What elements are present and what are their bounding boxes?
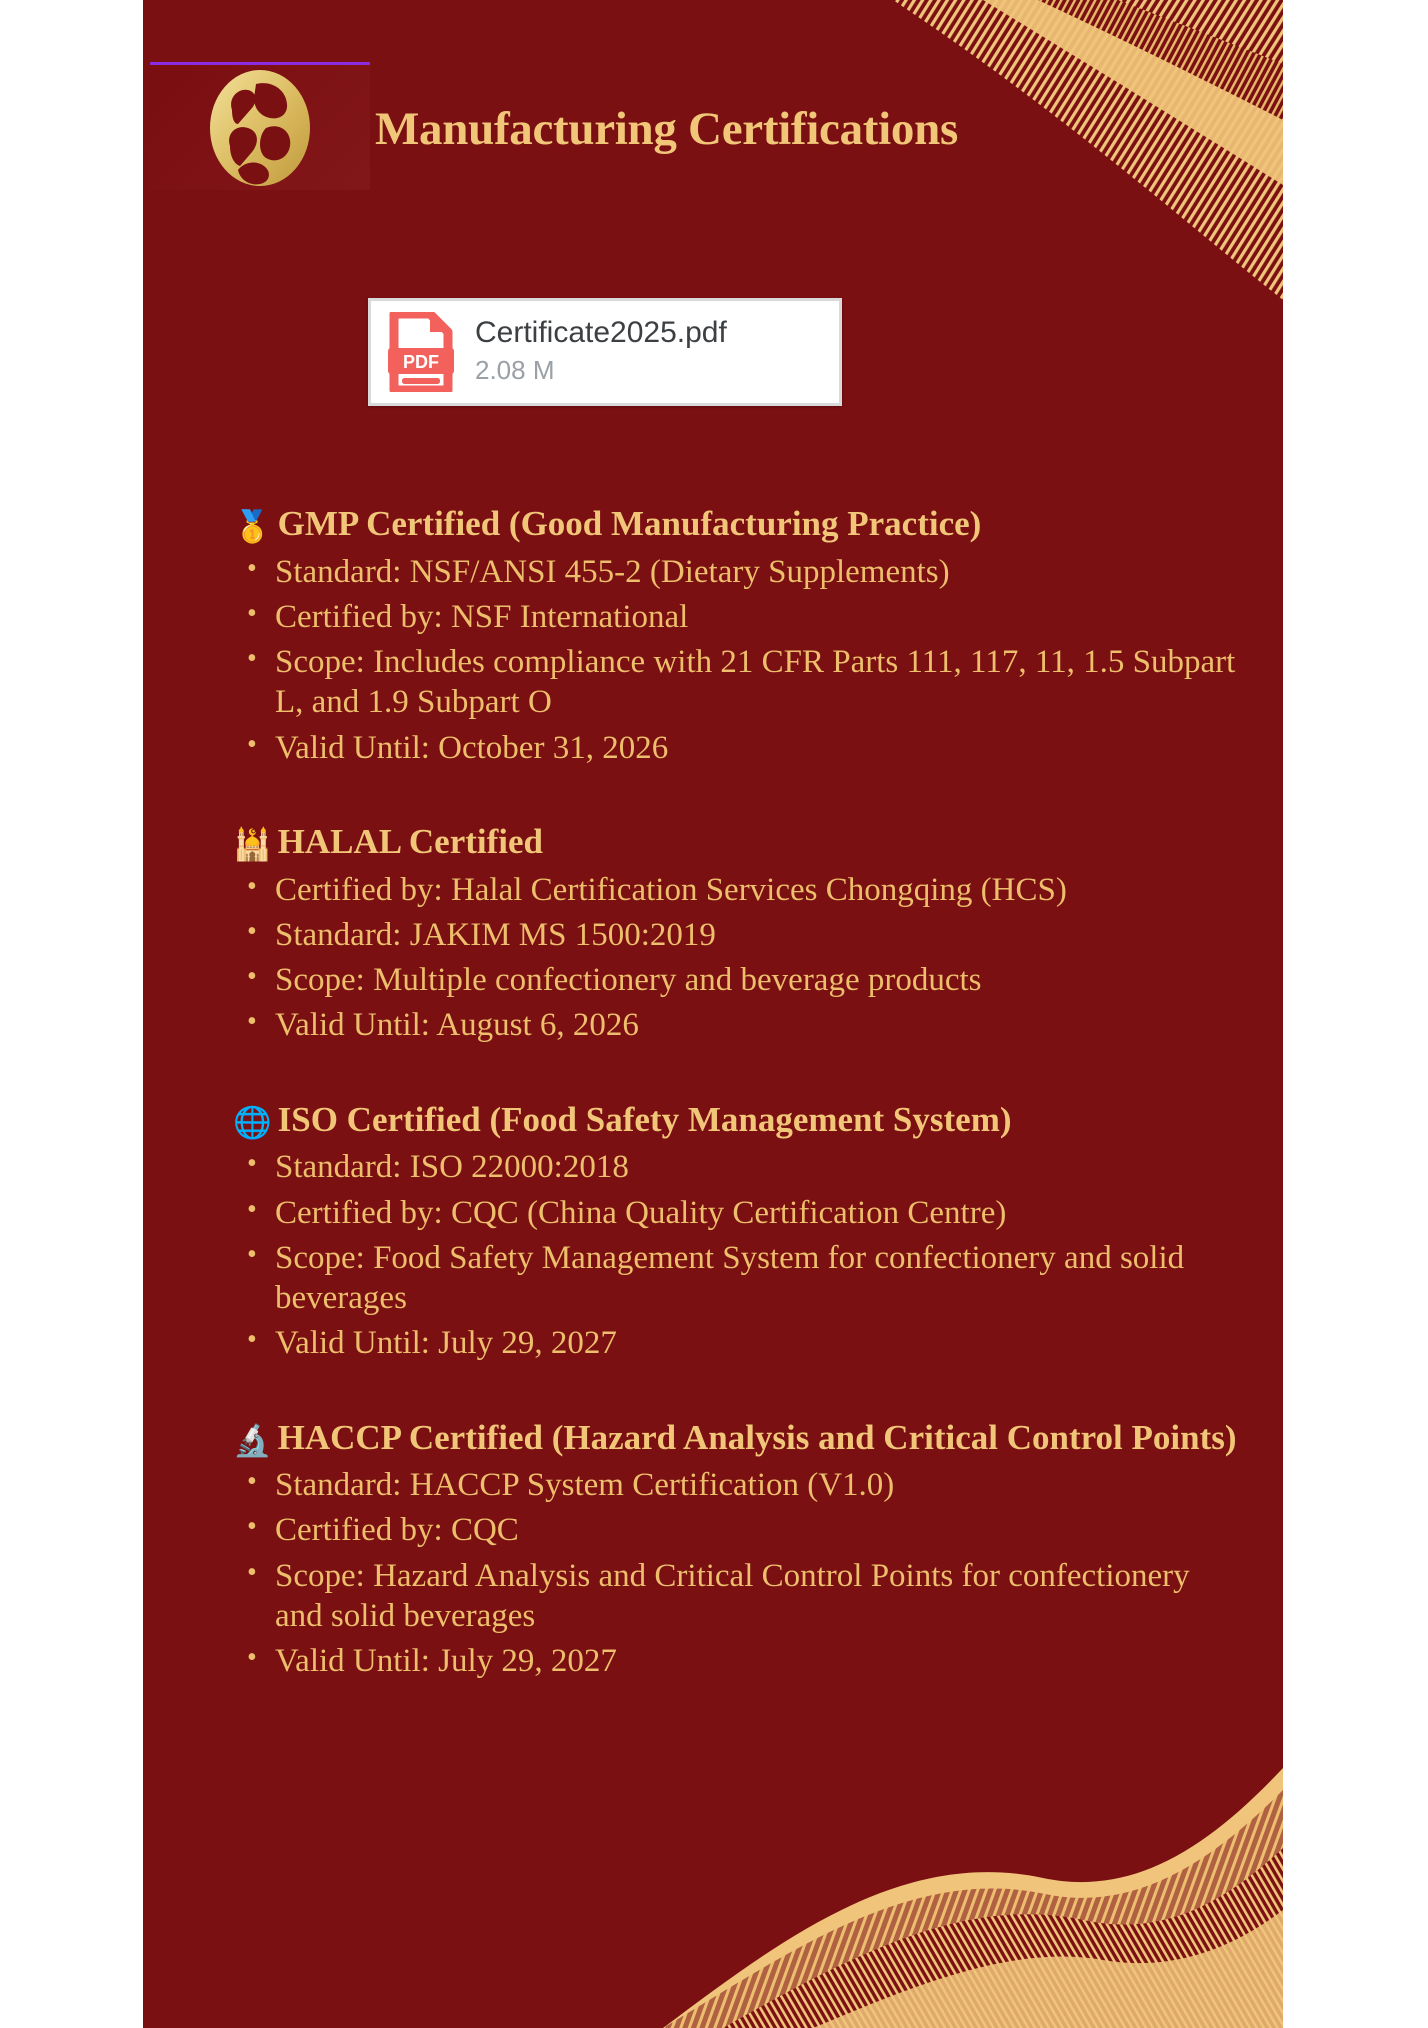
svg-text:PDF: PDF — [403, 352, 439, 372]
page-root: Manufacturing Certifications PDF Certifi… — [0, 0, 1428, 2028]
list-item: Scope: Multiple confectionery and bevera… — [233, 960, 1243, 1000]
certification-heading-text: HALAL Certified — [278, 822, 543, 861]
list-item: Certified by: Halal Certification Servic… — [233, 870, 1243, 910]
certification-details: Standard: NSF/ANSI 455-2 (Dietary Supple… — [233, 552, 1243, 768]
certification-details: Standard: ISO 22000:2018 Certified by: C… — [233, 1147, 1243, 1363]
certification-heading: 🔬HACCP Certified (Hazard Analysis and Cr… — [233, 1416, 1243, 1462]
pdf-file-size: 2.08 M — [475, 354, 727, 388]
list-item: Standard: HACCP System Certification (V1… — [233, 1465, 1243, 1505]
corner-ribbon-bottom-right-icon — [663, 1698, 1283, 2028]
brand-oval-logo-icon — [204, 66, 316, 190]
certification-heading-text: HACCP Certified (Hazard Analysis and Cri… — [278, 1418, 1237, 1457]
list-item: Valid Until: October 31, 2026 — [233, 728, 1243, 768]
list-item: Standard: ISO 22000:2018 — [233, 1147, 1243, 1187]
certification-heading: 🥇GMP Certified (Good Manufacturing Pract… — [233, 502, 1243, 548]
certification-heading: 🌐ISO Certified (Food Safety Management S… — [233, 1098, 1243, 1144]
list-item: Standard: NSF/ANSI 455-2 (Dietary Supple… — [233, 552, 1243, 592]
logo-container — [150, 62, 370, 190]
certification-block-haccp: 🔬HACCP Certified (Hazard Analysis and Cr… — [233, 1416, 1243, 1682]
pdf-file-name: Certificate2025.pdf — [475, 316, 727, 351]
certification-heading: 🕌HALAL Certified — [233, 820, 1243, 866]
list-item: Standard: JAKIM MS 1500:2019 — [233, 915, 1243, 955]
certification-details: Certified by: Halal Certification Servic… — [233, 870, 1243, 1046]
certifications-list: 🥇GMP Certified (Good Manufacturing Pract… — [233, 502, 1243, 1686]
certification-block-gmp: 🥇GMP Certified (Good Manufacturing Pract… — [233, 502, 1243, 768]
certification-details: Standard: HACCP System Certification (V1… — [233, 1465, 1243, 1681]
list-item: Valid Until: July 29, 2027 — [233, 1323, 1243, 1363]
microscope-icon: 🔬 — [233, 1423, 272, 1459]
list-item: Certified by: CQC — [233, 1510, 1243, 1550]
certification-panel: Manufacturing Certifications PDF Certifi… — [143, 0, 1283, 2028]
certification-heading-text: ISO Certified (Food Safety Management Sy… — [278, 1100, 1012, 1139]
pdf-glyph-icon: PDF — [384, 312, 458, 392]
medal-icon: 🥇 — [233, 509, 272, 545]
list-item: Scope: Food Safety Management System for… — [233, 1238, 1243, 1319]
pdf-attachment-card[interactable]: PDF Certificate2025.pdf 2.08 M — [368, 298, 842, 406]
pdf-file-icon: PDF — [371, 301, 471, 403]
list-item: Certified by: CQC (China Quality Certifi… — [233, 1193, 1243, 1233]
list-item: Valid Until: July 29, 2027 — [233, 1641, 1243, 1681]
list-item: Scope: Hazard Analysis and Critical Cont… — [233, 1556, 1243, 1637]
mosque-icon: 🕌 — [233, 827, 272, 863]
globe-icon: 🌐 — [233, 1105, 272, 1141]
certification-block-iso: 🌐ISO Certified (Food Safety Management S… — [233, 1098, 1243, 1364]
page-title: Manufacturing Certifications — [375, 102, 958, 156]
list-item: Scope: Includes compliance with 21 CFR P… — [233, 642, 1243, 723]
page-header: Manufacturing Certifications — [143, 62, 1283, 182]
certification-block-halal: 🕌HALAL Certified Certified by: Halal Cer… — [233, 820, 1243, 1046]
certification-heading-text: GMP Certified (Good Manufacturing Practi… — [278, 504, 982, 543]
list-item: Certified by: NSF International — [233, 597, 1243, 637]
list-item: Valid Until: August 6, 2026 — [233, 1005, 1243, 1045]
pdf-file-meta: Certificate2025.pdf 2.08 M — [471, 316, 727, 388]
